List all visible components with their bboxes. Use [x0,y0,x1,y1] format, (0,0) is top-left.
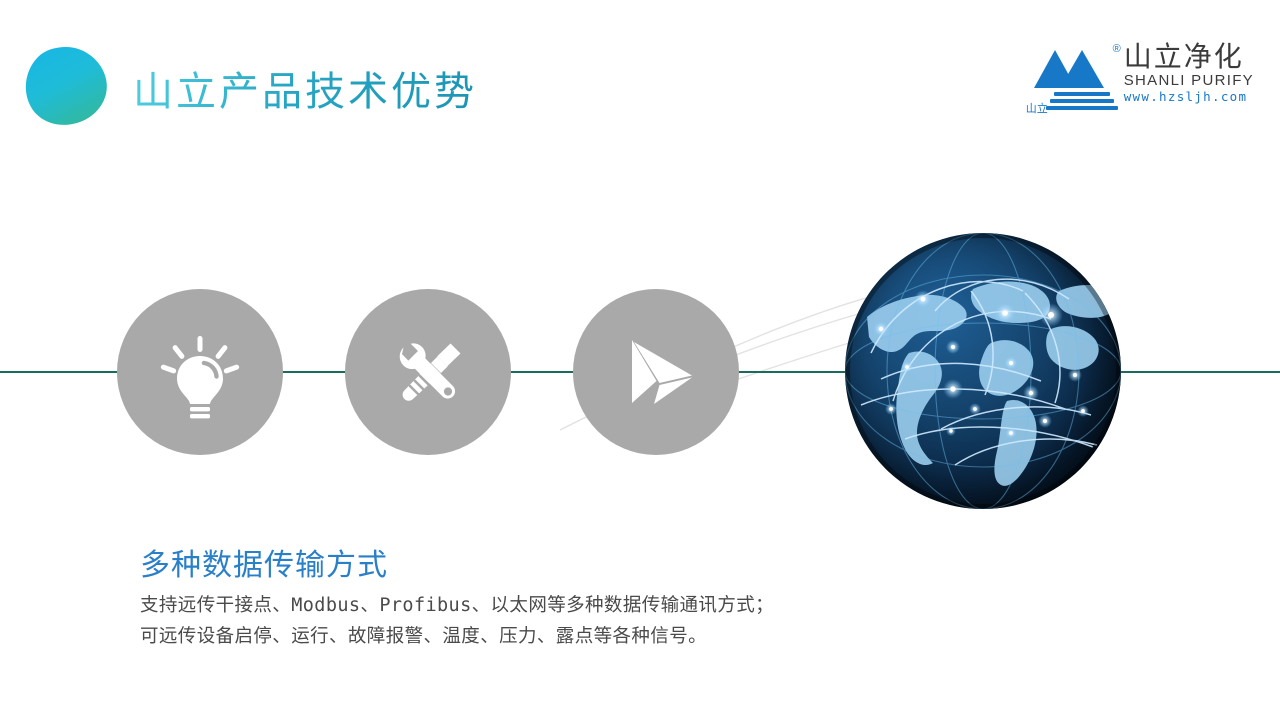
company-logo: ® 山立 山立净化 SHANLI PURIFY www.hzsljh.com [1026,42,1254,118]
feature-circle-tools[interactable] [345,289,511,455]
lightbulb-icon [152,324,248,420]
decorative-blob-icon [22,45,112,127]
caption-body: 支持远传干接点、Modbus、Profibus、以太网等多种数据传输通讯方式； … [140,590,774,652]
feature-circle-paper-plane[interactable] [573,289,739,455]
registered-trademark-icon: ® [1113,44,1121,55]
logo-website-url: www.hzsljh.com [1124,89,1254,104]
slide-canvas: 山立产品技术优势 ® 山立 山立净化 SHANLI PURIFY www.hzs… [0,0,1280,720]
tools-icon [380,324,476,420]
logo-company-en: SHANLI PURIFY [1124,72,1254,89]
logo-mark-caption: 山立 [1026,103,1048,114]
shanli-mountain-mark-icon: ® 山立 [1026,42,1122,118]
logo-company-cn: 山立净化 [1124,43,1254,72]
network-globe-image [845,233,1121,509]
caption-body-line-2: 可远传设备启停、运行、故障报警、温度、压力、露点等各种信号。 [140,621,774,652]
page-title: 山立产品技术优势 [133,59,477,117]
feature-circle-lightbulb[interactable] [117,289,283,455]
caption-heading: 多种数据传输方式 [140,540,388,584]
caption-body-line-1: 支持远传干接点、Modbus、Profibus、以太网等多种数据传输通讯方式； [140,590,774,621]
paper-plane-icon [608,324,704,420]
